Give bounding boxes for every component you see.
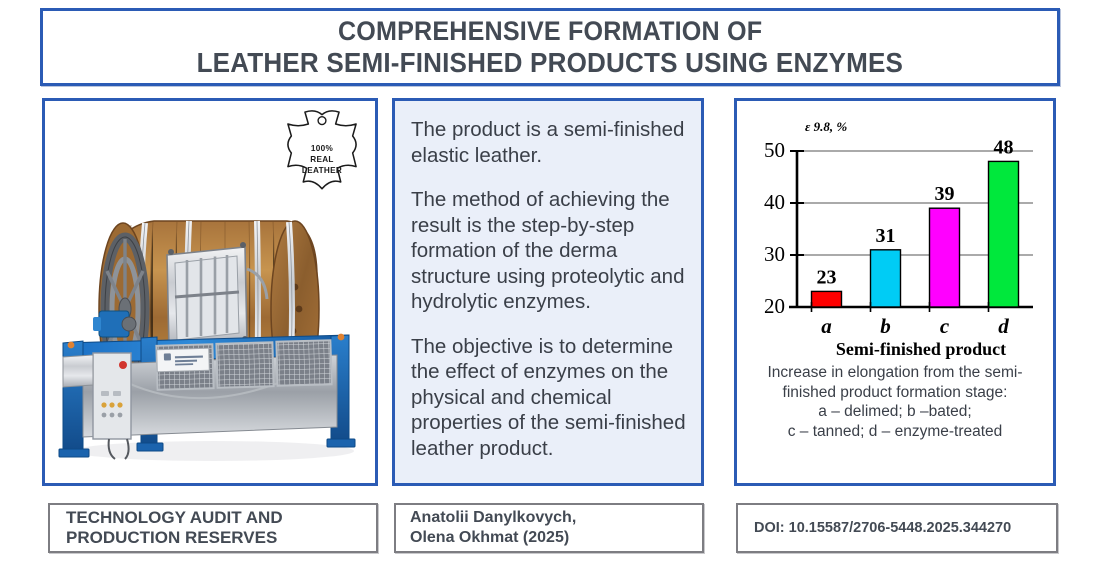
- xtick-label-c: c: [940, 314, 950, 338]
- bar-value-c: 39: [935, 183, 955, 205]
- bar-d: [989, 161, 1019, 307]
- journal-name-line-2: PRODUCTION RESERVES: [66, 528, 283, 548]
- bar-c: [930, 208, 960, 307]
- description-panel: The product is a semi-finished elastic l…: [392, 98, 704, 486]
- tanning-drum-illustration: [49, 159, 371, 479]
- bar-value-b: 31: [876, 225, 896, 247]
- chart-inner: 20304050ε 9.8, %23a31b39c48dSemi-finishe…: [737, 101, 1053, 483]
- doi-box: DOI: 10.15587/2706-5448.2025.344270: [736, 503, 1058, 553]
- description-paragraph-3: The objective is to determine the effect…: [411, 334, 687, 462]
- xtick-label-b: b: [880, 314, 891, 338]
- badge-line-1: 100%: [279, 143, 365, 154]
- doi-text: DOI: 10.15587/2706-5448.2025.344270: [754, 518, 1011, 538]
- tanning-drum-photo: 100% REAL LEATHER: [45, 101, 375, 483]
- ytick-label-20: 20: [764, 294, 785, 318]
- bar-chart-svg: 20304050ε 9.8, %23a31b39c48dSemi-finishe…: [745, 111, 1045, 359]
- chart-caption-line-3: c – tanned; d – enzyme-treated: [743, 422, 1047, 442]
- chart-caption: Increase in elongation from the semi-fin…: [743, 363, 1047, 441]
- photo-panel: 100% REAL LEATHER: [42, 98, 378, 486]
- page-title-line-1: COMPREHENSIVE FORMATION OF: [338, 15, 762, 47]
- ytick-label-50: 50: [764, 138, 785, 162]
- y-axis-title: ε 9.8, %: [805, 119, 847, 134]
- badge-line-3: LEATHER: [279, 165, 365, 176]
- journal-name-line-1: TECHNOLOGY AUDIT AND: [66, 508, 283, 528]
- bar-a: [812, 291, 842, 307]
- chart-caption-line-1: Increase in elongation from the semi-fin…: [743, 363, 1047, 402]
- xtick-label-a: a: [821, 314, 832, 338]
- ytick-label-40: 40: [764, 190, 785, 214]
- badge-text: 100% REAL LEATHER: [279, 143, 365, 176]
- xtick-label-d: d: [998, 314, 1009, 338]
- description-paragraph-1: The product is a semi-finished elastic l…: [411, 117, 687, 168]
- bar-value-d: 48: [994, 136, 1014, 158]
- description-text: The product is a semi-finished elastic l…: [395, 101, 701, 483]
- journal-name-box: TECHNOLOGY AUDIT ANDPRODUCTION RESERVES: [48, 503, 378, 553]
- chart-caption-line-2: a – delimed; b –bated;: [743, 402, 1047, 422]
- real-leather-badge: 100% REAL LEATHER: [279, 107, 365, 199]
- journal-name-text: TECHNOLOGY AUDIT ANDPRODUCTION RESERVES: [66, 508, 283, 548]
- page-title-banner: COMPREHENSIVE FORMATION OF LEATHER SEMI-…: [40, 8, 1060, 86]
- authors-box: Anatolii Danylkovych,Olena Okhmat (2025): [394, 503, 704, 553]
- bar-b: [871, 250, 901, 307]
- elongation-bar-chart: 20304050ε 9.8, %23a31b39c48dSemi-finishe…: [745, 111, 1045, 359]
- bar-value-a: 23: [817, 266, 837, 288]
- x-axis-title: Semi-finished product: [836, 339, 1006, 359]
- authors-line-1: Anatolii Danylkovych,: [410, 508, 576, 528]
- authors-line-2: Olena Okhmat (2025): [410, 528, 576, 548]
- authors-text: Anatolii Danylkovych,Olena Okhmat (2025): [410, 508, 576, 548]
- chart-panel: 20304050ε 9.8, %23a31b39c48dSemi-finishe…: [734, 98, 1056, 486]
- page-title-line-2: LEATHER SEMI-FINISHED PRODUCTS USING ENZ…: [197, 47, 903, 79]
- ytick-label-30: 30: [764, 242, 785, 266]
- badge-line-2: REAL: [279, 154, 365, 165]
- description-paragraph-2: The method of achieving the result is th…: [411, 187, 687, 315]
